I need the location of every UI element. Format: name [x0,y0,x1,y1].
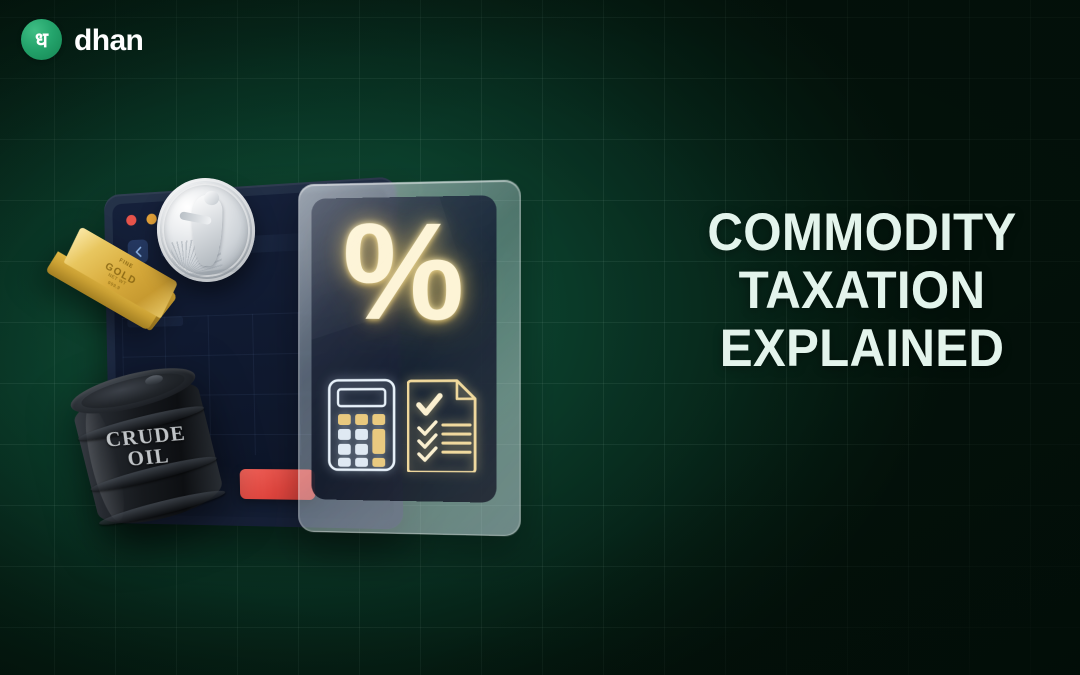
checklist-document-icon [407,378,479,473]
dhan-logo-icon: ध [21,19,62,60]
poster-canvas: ध dhan [0,0,1080,675]
window-dot-red-icon [126,215,136,226]
headline-line-1: COMMODITY [676,204,1048,262]
headline-line-3: EXPLAINED [676,320,1048,378]
chevron-left-icon [134,246,142,257]
brand-name: dhan [74,26,143,56]
headline: COMMODITY TAXATION EXPLAINED [662,204,1062,378]
calculator-icon [327,378,396,472]
tax-icons-row [327,378,482,475]
headline-line-2: TAXATION [676,262,1048,320]
percent-symbol: % [312,187,497,357]
barrel-oil-text: OIL [126,443,171,470]
hero-illustration: FINE GOLD NET WT 999.9 [0,0,600,675]
window-dot-yellow-icon [146,213,156,224]
brand-logo[interactable]: ध dhan [21,19,143,60]
devanagari-dha-glyph: ध [35,30,48,51]
